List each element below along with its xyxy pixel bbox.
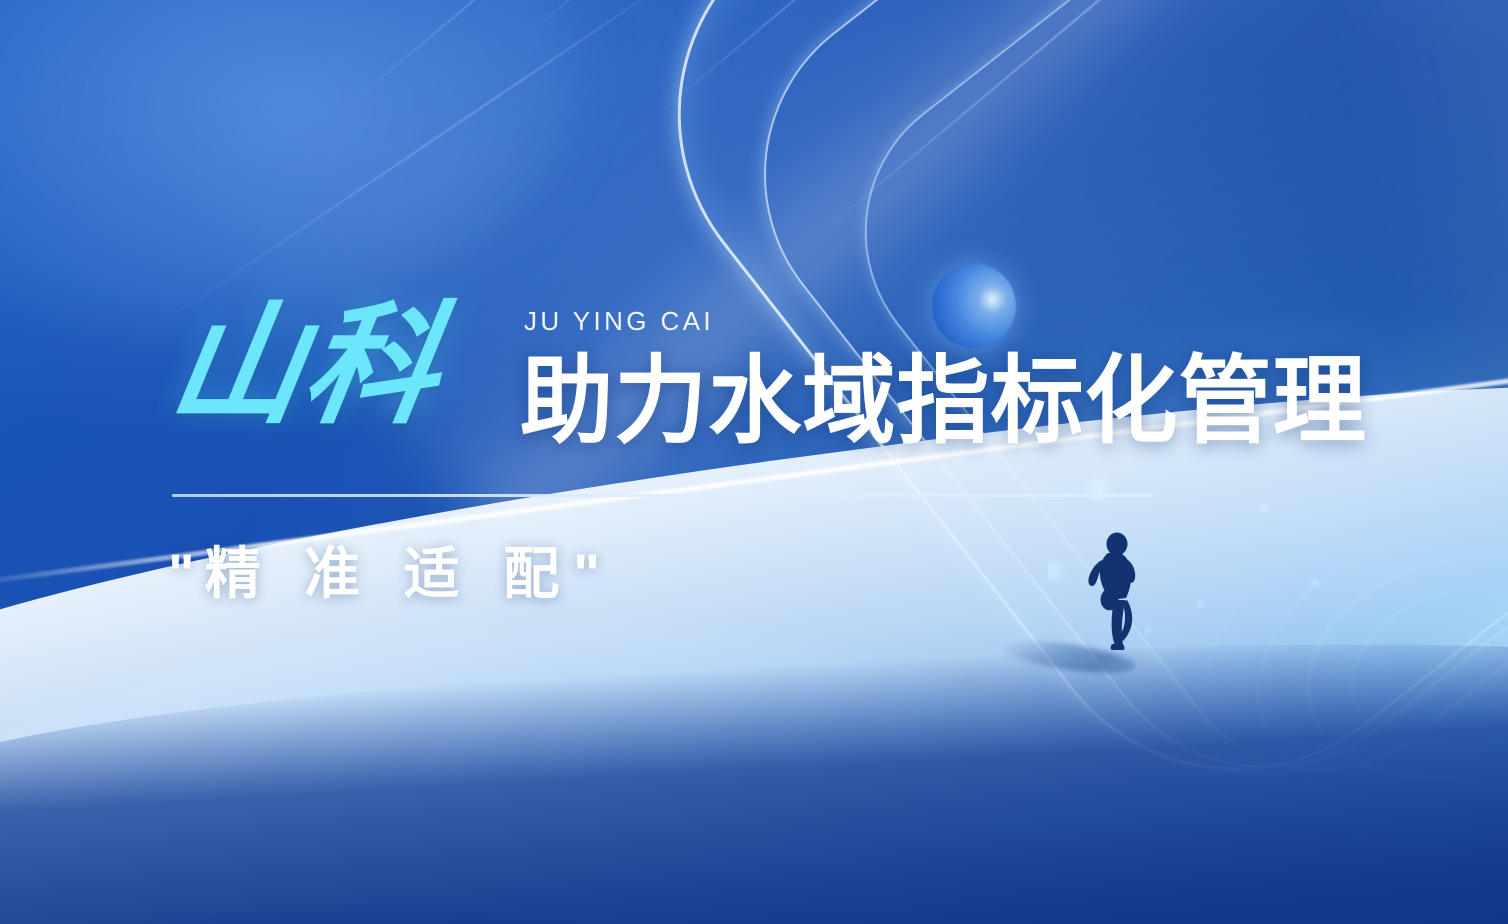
promo-banner: 山科 JU YING CAI 助力水域指标化管理 "精 准 适 配" bbox=[0, 0, 1508, 924]
subtitle-text: 精 准 适 配 bbox=[205, 542, 574, 605]
brand-logotype: 山科 bbox=[162, 300, 451, 432]
banner-content: 山科 JU YING CAI 助力水域指标化管理 "精 准 适 配" bbox=[0, 0, 1508, 924]
banner-headline: 助力水域指标化管理 bbox=[520, 352, 1367, 453]
subtitle-open-quote: " bbox=[168, 542, 205, 605]
brand-pinyin: JU YING CAI bbox=[524, 306, 714, 337]
subtitle-close-quote: " bbox=[573, 542, 610, 605]
headline-divider bbox=[172, 494, 1152, 497]
banner-subtitle: "精 准 适 配" bbox=[168, 542, 610, 606]
